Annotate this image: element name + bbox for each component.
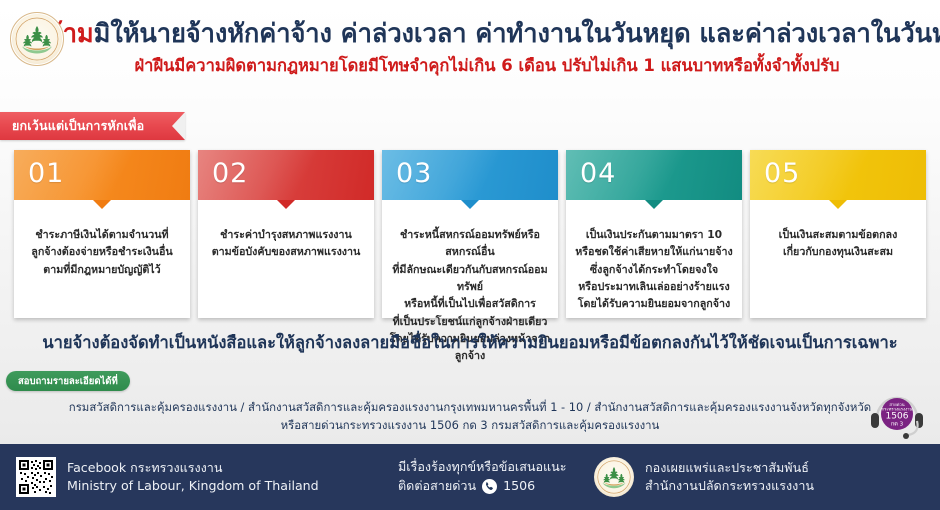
card-03-line-2: ที่มีลักษณะเดียวกันกับสหกรณ์ออมทรัพย์ — [392, 263, 547, 293]
card-02-line-2: ตามข้อบังคับของสหภาพแรงงาน — [212, 245, 361, 258]
title-rest: มิให้นายจ้างหักค่าจ้าง ค่าล่วงเวลา ค่าทำ… — [94, 19, 940, 49]
card-03-line-1: ชำระหนี้สหกรณ์ออมทรัพย์หรือสหกรณ์อื่น — [400, 228, 540, 258]
card-05-line-2: เกี่ยวกับกองทุนเงินสะสม — [783, 245, 893, 258]
thai-ministry-of-labour-emblem-icon — [594, 457, 634, 497]
card-04-header: 04 — [566, 150, 742, 200]
card-04-line-5: โดยได้รับความยินยอมจากลูกจ้าง — [578, 297, 731, 310]
headset-hotline-icon: สายด่วน กระทรวงแรงงาน 1506 กด 3 — [866, 388, 928, 440]
card-notch — [93, 200, 111, 209]
page-subtitle: ฝ่าฝืนมีความผิดตามกฎหมายโดยมีโทษจำคุกไม่… — [46, 56, 928, 76]
card-05-number: 05 — [764, 156, 800, 192]
card-01-line-3: ตามที่มีกฎหมายบัญญัติไว้ — [43, 263, 160, 276]
qr-code-icon — [16, 457, 56, 497]
footer-facebook-line-1: Facebook กระทรวงแรงงาน — [67, 459, 319, 477]
card-05: 05 เป็นเงินสะสมตามข้อตกลง เกี่ยวกับกองทุ… — [750, 150, 926, 318]
footer-complaint-line-1: มีเรื่องร้องทุกข์หรือข้อเสนอแนะ — [398, 458, 594, 477]
card-04-line-1: เป็นเงินประกันตามมาตรา 10 — [586, 228, 722, 241]
card-02-line-1: ชำระค่าบำรุงสหภาพแรงงาน — [220, 228, 352, 241]
card-04-line-2: หรือชดใช้ค่าเสียหายให้แก่นายจ้าง — [575, 245, 732, 258]
thai-ministry-of-labour-emblem-icon — [10, 12, 64, 66]
card-notch — [461, 200, 479, 209]
footer-department-line-2: สำนักงานปลัดกระทรวงแรงงาน — [645, 477, 814, 495]
footer-facebook-line-2: Ministry of Labour, Kingdom of Thailand — [67, 477, 319, 495]
footer-complaint-line-2: ติดต่อสายด่วน 1506 — [398, 477, 594, 496]
card-04-number: 04 — [580, 156, 616, 192]
contact-line-1: กรมสวัสดิการและคุ้มครองแรงงาน / สำนักงาน… — [0, 398, 940, 416]
card-03-number: 03 — [396, 156, 432, 192]
card-05-body: เป็นเงินสะสมตามข้อตกลง เกี่ยวกับกองทุนเง… — [750, 200, 926, 318]
card-01-line-1: ชำระภาษีเงินได้ตามจำนวนที่ — [35, 228, 168, 241]
footer-department-text: กองเผยแพร่และประชาสัมพันธ์ สำนักงานปลัดก… — [645, 459, 814, 495]
card-01-number: 01 — [28, 156, 64, 192]
footer-complaint-prefix: ติดต่อสายด่วน — [398, 477, 476, 496]
contact-pill: สอบถามรายละเอียดได้ที่ — [6, 371, 130, 391]
footer-bar: Facebook กระทรวงแรงงาน Ministry of Labou… — [0, 444, 940, 510]
footer-facebook-text: Facebook กระทรวงแรงงาน Ministry of Labou… — [67, 459, 319, 495]
card-03-line-4: ที่เป็นประโยชน์แก่ลูกจ้างฝ่ายเดียว — [393, 315, 548, 328]
card-05-header: 05 — [750, 150, 926, 200]
card-01-body: ชำระภาษีเงินได้ตามจำนวนที่ ลูกจ้างต้องจ่… — [14, 200, 190, 318]
card-03-line-3: หรือหนี้ที่เป็นไปเพื่อสวัสดิการ — [404, 297, 536, 310]
exception-ribbon: ยกเว้นแต่เป็นการหักเพื่อ — [0, 112, 185, 140]
exception-ribbon-label: ยกเว้นแต่เป็นการหักเพื่อ — [12, 116, 144, 136]
card-02-body: ชำระค่าบำรุงสหภาพแรงงาน ตามข้อบังคับของส… — [198, 200, 374, 318]
hotline-number: 1506 — [886, 412, 909, 422]
card-03-header: 03 — [382, 150, 558, 200]
card-notch — [645, 200, 663, 209]
footer-department-line-1: กองเผยแพร่และประชาสัมพันธ์ — [645, 459, 814, 477]
footer-department-block: กองเผยแพร่และประชาสัมพันธ์ สำนักงานปลัดก… — [594, 457, 924, 497]
footer-complaint-block: มีเรื่องร้องทุกข์หรือข้อเสนอแนะ ติดต่อสา… — [388, 458, 594, 495]
page-title: ห้ามมิให้นายจ้างหักค่าจ้าง ค่าล่วงเวลา ค… — [46, 19, 928, 49]
contact-line-2: หรือสายด่วนกระทรวงแรงงาน 1506 กด 3 กรมสว… — [0, 416, 940, 434]
card-04: 04 เป็นเงินประกันตามมาตรา 10 หรือชดใช้ค่… — [566, 150, 742, 318]
contact-pill-label: สอบถามรายละเอียดได้ที่ — [18, 374, 118, 389]
statement-text: นายจ้างต้องจัดทำเป็นหนังสือและให้ลูกจ้าง… — [0, 330, 940, 356]
card-02-header: 02 — [198, 150, 374, 200]
card-notch — [829, 200, 847, 209]
card-01: 01 ชำระภาษีเงินได้ตามจำนวนที่ ลูกจ้างต้อ… — [14, 150, 190, 318]
footer-hotline-number: 1506 — [503, 477, 535, 496]
footer-facebook-block: Facebook กระทรวงแรงงาน Ministry of Labou… — [16, 457, 388, 497]
card-01-line-2: ลูกจ้างต้องจ่ายหรือชำระเงินอื่น — [31, 245, 172, 258]
card-03: 03 ชำระหนี้สหกรณ์ออมทรัพย์หรือสหกรณ์อื่น… — [382, 150, 558, 318]
card-notch — [277, 200, 295, 209]
card-04-body: เป็นเงินประกันตามมาตรา 10 หรือชดใช้ค่าเส… — [566, 200, 742, 321]
hotline-extension: กด 3 — [891, 422, 904, 428]
phone-icon — [482, 479, 497, 494]
header: ห้ามมิให้นายจ้างหักค่าจ้าง ค่าล่วงเวลา ค… — [0, 0, 940, 108]
card-02-number: 02 — [212, 156, 248, 192]
card-04-line-4: หรือประมาทเลินเล่ออย่างร้ายแรง — [578, 280, 729, 293]
cards-row: 01 ชำระภาษีเงินได้ตามจำนวนที่ ลูกจ้างต้อ… — [14, 150, 926, 318]
card-04-line-3: ซึ่งลูกจ้างได้กระทำโดยจงใจ — [590, 263, 718, 276]
card-02: 02 ชำระค่าบำรุงสหภาพแรงงาน ตามข้อบังคับข… — [198, 150, 374, 318]
card-05-line-1: เป็นเงินสะสมตามข้อตกลง — [779, 228, 898, 241]
infographic-poster: ห้ามมิให้นายจ้างหักค่าจ้าง ค่าล่วงเวลา ค… — [0, 0, 940, 510]
card-01-header: 01 — [14, 150, 190, 200]
contact-block: กรมสวัสดิการและคุ้มครองแรงงาน / สำนักงาน… — [0, 398, 940, 435]
